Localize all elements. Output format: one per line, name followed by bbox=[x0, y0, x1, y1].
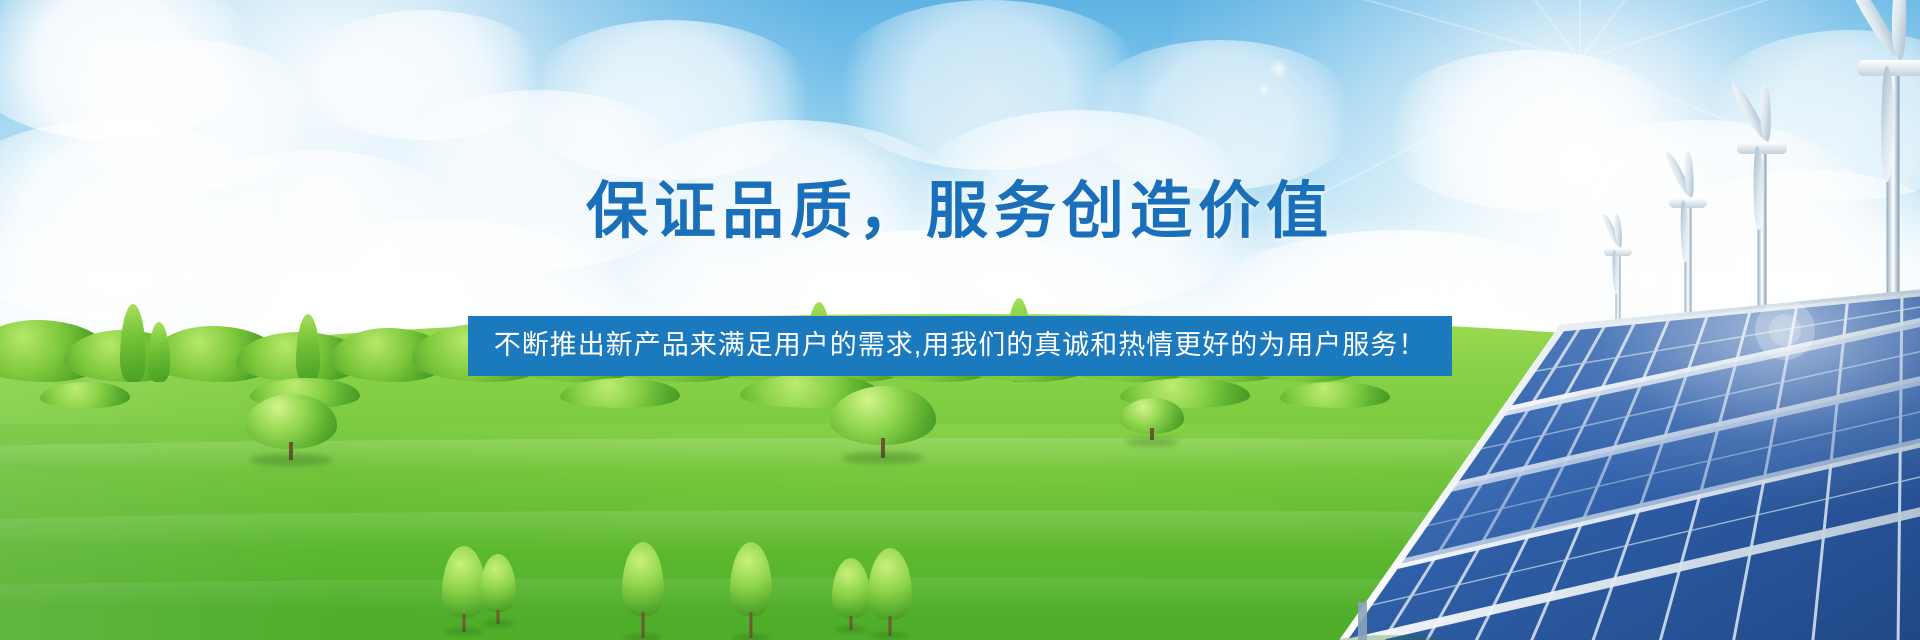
sapling-crown bbox=[832, 558, 870, 618]
sapling-crown bbox=[480, 554, 516, 612]
tree-shadow bbox=[1126, 438, 1178, 446]
sapling-crown bbox=[730, 542, 772, 616]
tree-shadow bbox=[250, 454, 332, 466]
sapling-crown bbox=[622, 542, 664, 616]
banner-subtitle-wrapper: 不断推出新产品来满足用户的需求,用我们的真诚和热情更好的为用户服务！ bbox=[0, 316, 1920, 376]
sapling-shadow bbox=[871, 632, 909, 639]
sapling-shadow bbox=[624, 634, 662, 640]
lawn-tree-left bbox=[245, 394, 337, 464]
sapling-4 bbox=[728, 542, 774, 638]
sapling-6 bbox=[866, 548, 914, 636]
tree-shadow bbox=[842, 452, 924, 464]
tree-crown bbox=[830, 386, 936, 445]
hero-banner: 保证品质，服务创造价值 不断推出新产品来满足用户的需求,用我们的真诚和热情更好的… bbox=[0, 0, 1920, 640]
sapling-2 bbox=[478, 554, 518, 624]
banner-headline: 保证品质，服务创造价值 bbox=[0, 160, 1920, 250]
lawn-tree-far-right bbox=[1120, 398, 1184, 444]
tree-crown bbox=[245, 394, 337, 449]
sapling-shadow bbox=[445, 628, 483, 635]
sapling-shadow bbox=[732, 634, 770, 640]
sapling-shadow bbox=[483, 620, 513, 627]
turbine-nacelle bbox=[1737, 142, 1787, 154]
lawn-tree-right bbox=[830, 386, 936, 462]
sapling-shadow bbox=[835, 626, 867, 633]
sapling-crown bbox=[868, 548, 912, 620]
banner-subtitle: 不断推出新产品来满足用户的需求,用我们的真诚和热情更好的为用户服务！ bbox=[468, 316, 1453, 376]
sapling-3 bbox=[620, 542, 666, 638]
